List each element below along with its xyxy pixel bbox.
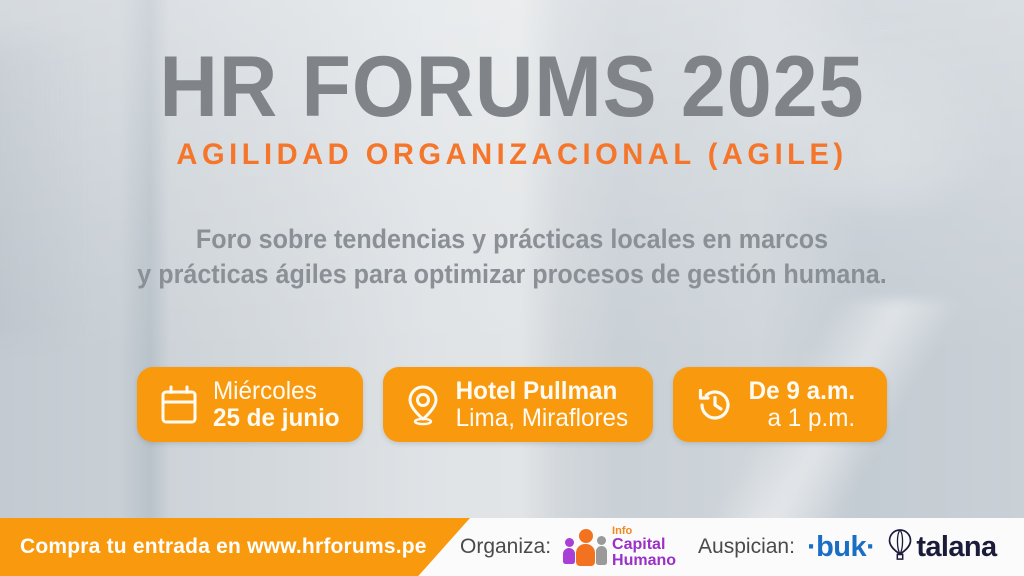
pill-time-line1: De 9 a.m. <box>749 378 855 404</box>
description-line-2: y prácticas ágiles para optimizar proces… <box>36 257 988 292</box>
auspician-label: Auspician: <box>698 535 795 559</box>
banner-subtitle: AGILIDAD ORGANIZACIONAL (AGILE) <box>15 140 1008 170</box>
event-info-pills: Miércoles 25 de junio Hotel Pullman Lima… <box>0 367 1024 442</box>
pill-date-text: Miércoles 25 de junio <box>213 378 340 431</box>
sponsor-logo-talana[interactable]: talana <box>887 528 996 567</box>
pill-location-line1: Hotel Pullman <box>456 378 618 404</box>
pill-date-line2: 25 de junio <box>213 405 340 431</box>
organiza-label: Organiza: <box>460 535 551 559</box>
pill-time-text: De 9 a.m. a 1 p.m. <box>749 378 855 431</box>
organizer-name-top: Info <box>612 526 676 537</box>
description-line-1: Foro sobre tendencias y prácticas locale… <box>36 222 988 257</box>
footer-bar: Compra tu entrada en www.hrforums.pe Org… <box>0 518 1024 576</box>
pill-date-line1: Miércoles <box>213 378 317 404</box>
organizer-name-mid: Capital <box>612 537 676 553</box>
hot-air-balloon-icon <box>887 528 913 567</box>
ticket-cta-link[interactable]: Compra tu entrada en www.hrforums.pe <box>20 518 427 576</box>
figure-large-orange <box>576 529 595 566</box>
event-banner: HR FORUMS 2025 AGILIDAD ORGANIZACIONAL (… <box>0 0 1024 576</box>
sponsor-logo-buk[interactable]: ·buk· <box>807 531 875 564</box>
pill-location-text: Hotel Pullman Lima, Miraflores <box>456 378 628 431</box>
organizer-name: Info Capital Humano <box>612 526 676 569</box>
banner-description: Foro sobre tendencias y prácticas locale… <box>36 222 988 292</box>
calendar-icon <box>159 384 199 426</box>
pill-time-line2: a 1 p.m. <box>768 405 856 431</box>
people-group-icon <box>563 528 607 566</box>
pill-location-line2: Lima, Miraflores <box>456 405 628 431</box>
pill-location: Hotel Pullman Lima, Miraflores <box>383 367 653 442</box>
organizer-name-bottom: Humano <box>612 553 676 569</box>
organizer-logo[interactable]: Info Capital Humano <box>563 526 676 569</box>
figure-small-purple <box>563 538 575 564</box>
clock-history-icon <box>695 385 735 425</box>
sponsor-talana-name: talana <box>916 531 996 564</box>
footer-sponsors: Organiza: I <box>460 518 1018 576</box>
location-pin-icon <box>405 383 441 427</box>
figure-gray <box>596 536 607 565</box>
page-title: HR FORUMS 2025 <box>31 44 994 130</box>
pill-date: Miércoles 25 de junio <box>137 367 364 442</box>
pill-time: De 9 a.m. a 1 p.m. <box>673 367 887 442</box>
